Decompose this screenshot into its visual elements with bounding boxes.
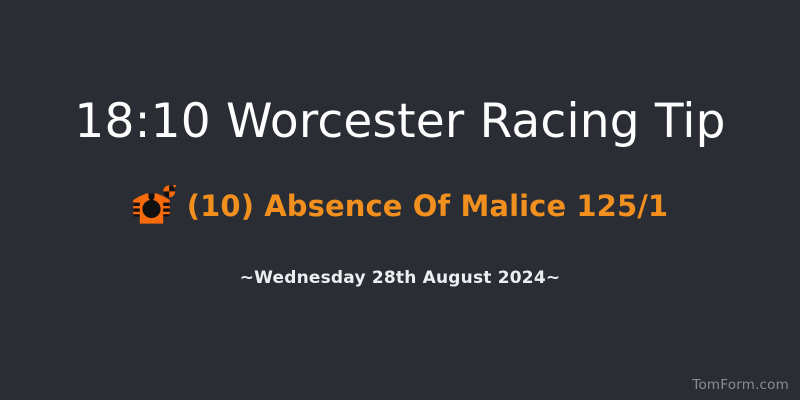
jockey-silks-icon xyxy=(132,183,178,229)
date-row: ~Wednesday 28th August 2024~ xyxy=(0,266,800,290)
silks-wrapper xyxy=(132,183,187,229)
site-watermark: TomForm.com xyxy=(692,376,789,394)
selection-row: (10) Absence Of Malice 125/1 xyxy=(0,183,800,229)
page-title: 18:10 Worcester Racing Tip xyxy=(74,93,725,151)
silks-body xyxy=(140,194,163,224)
title-row: 18:10 Worcester Racing Tip xyxy=(0,93,800,151)
racing-tip-card: 18:10 Worcester Racing Tip xyxy=(0,0,800,400)
silks-cap xyxy=(163,185,176,197)
selection-label: (10) Absence Of Malice 125/1 xyxy=(187,186,668,226)
race-date: ~Wednesday 28th August 2024~ xyxy=(240,266,561,290)
